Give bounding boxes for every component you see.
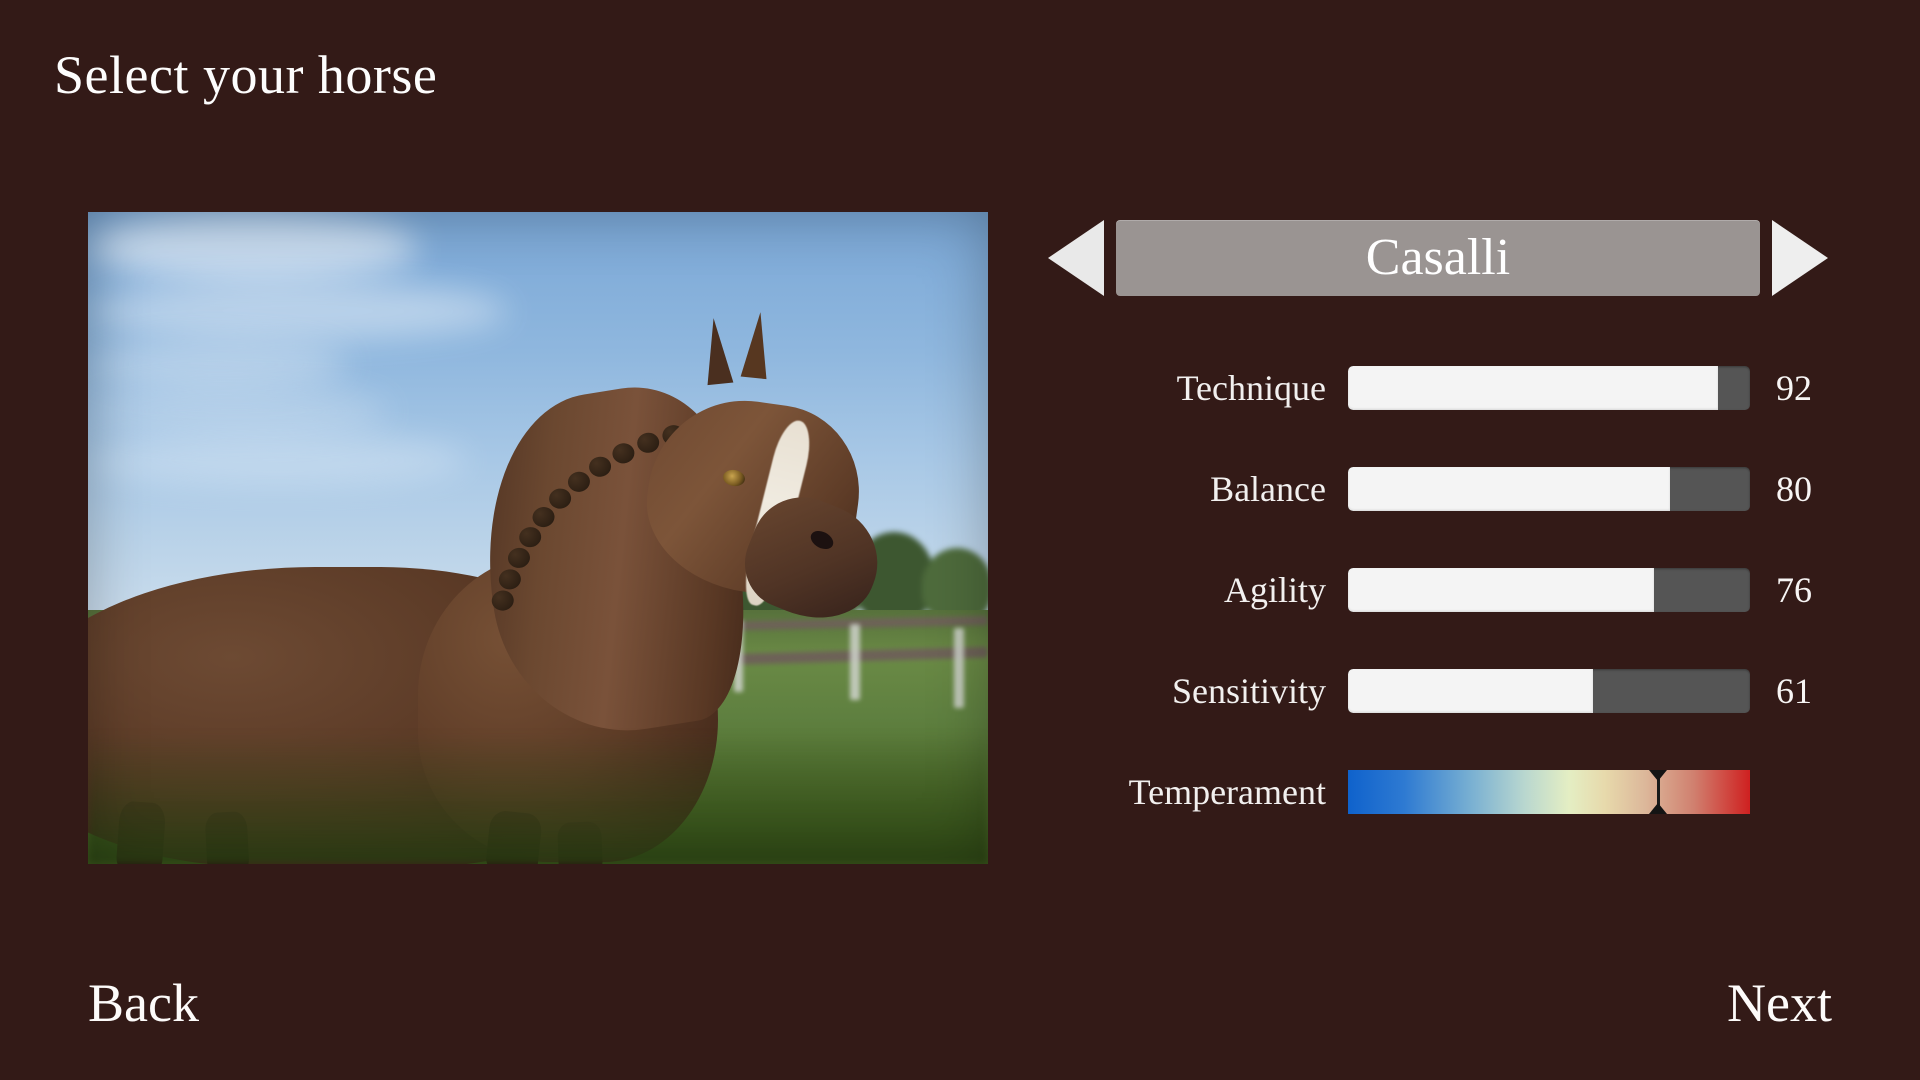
- stat-value-sensitivity: 61: [1750, 670, 1840, 712]
- stat-row-temperament: Temperament: [1000, 764, 1880, 820]
- stat-row-sensitivity: Sensitivity 61: [1000, 663, 1880, 719]
- temperament-gradient-bar: [1348, 770, 1750, 814]
- horse-preview-image: [88, 212, 988, 864]
- horse-selector: Casalli: [1048, 218, 1828, 298]
- stat-bar-sensitivity: [1348, 669, 1750, 713]
- next-button[interactable]: Next: [1727, 972, 1832, 1034]
- stat-label-technique: Technique: [1000, 367, 1348, 409]
- stat-bar-fill: [1348, 568, 1654, 612]
- stat-row-technique: Technique 92: [1000, 360, 1880, 416]
- stat-label-temperament: Temperament: [1000, 771, 1348, 813]
- page-title: Select your horse: [54, 44, 437, 106]
- stat-label-sensitivity: Sensitivity: [1000, 670, 1348, 712]
- stat-label-agility: Agility: [1000, 569, 1348, 611]
- previous-horse-arrow-icon[interactable]: [1048, 220, 1104, 296]
- horse-ear: [701, 317, 734, 385]
- horse-name-bar[interactable]: Casalli: [1116, 220, 1760, 296]
- stat-value-technique: 92: [1750, 367, 1840, 409]
- temperament-marker: [1657, 770, 1660, 814]
- horse-name-label: Casalli: [1366, 232, 1510, 284]
- stat-bar-fill: [1348, 366, 1718, 410]
- stat-row-balance: Balance 80: [1000, 461, 1880, 517]
- horse-ear: [741, 311, 774, 379]
- horse-stats-panel: Technique 92 Balance 80 Agility 76 Sensi…: [1000, 360, 1880, 820]
- stat-bar-technique: [1348, 366, 1750, 410]
- stat-bar-fill: [1348, 669, 1593, 713]
- stat-bar-agility: [1348, 568, 1750, 612]
- next-horse-arrow-icon[interactable]: [1772, 220, 1828, 296]
- foreground-grass: [88, 732, 988, 864]
- stat-bar-fill: [1348, 467, 1670, 511]
- stat-value-balance: 80: [1750, 468, 1840, 510]
- stat-value-agility: 76: [1750, 569, 1840, 611]
- stat-row-agility: Agility 76: [1000, 562, 1880, 618]
- stat-bar-balance: [1348, 467, 1750, 511]
- back-button[interactable]: Back: [88, 972, 199, 1034]
- stat-label-balance: Balance: [1000, 468, 1348, 510]
